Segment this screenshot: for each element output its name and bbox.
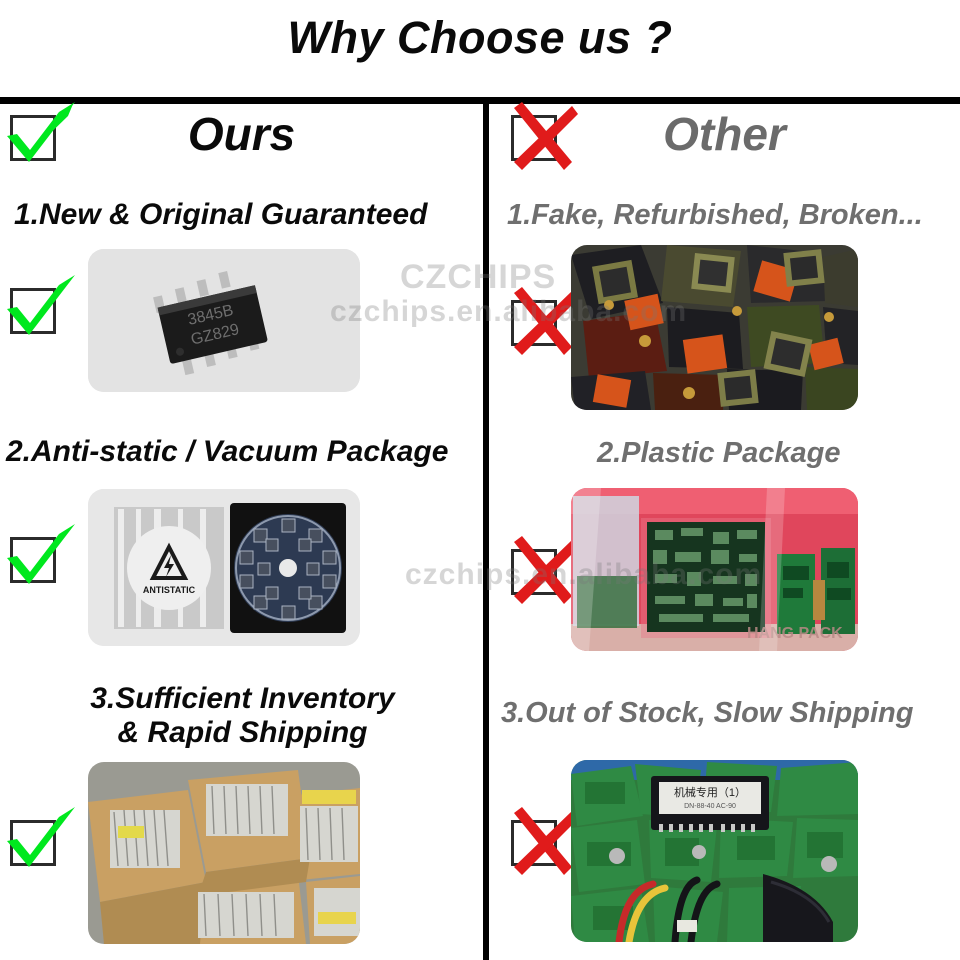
photo-chip-sop8: 3845B GZ829 xyxy=(88,249,360,392)
check-mark-icon-1 xyxy=(10,288,56,334)
feature-label-ours-2: 2.Anti-static / Vacuum Package xyxy=(6,435,476,469)
check-mark-icon-3 xyxy=(10,820,56,866)
cross-mark-icon-1 xyxy=(511,300,557,346)
feature-label-other-3: 3.Out of Stock, Slow Shipping xyxy=(501,697,956,729)
comparison-infographic: Why Choose us ? Ours 1.New & Original Gu… xyxy=(0,0,960,960)
feature-label-ours-3: 3.Sufficient Inventory & Rapid Shipping xyxy=(10,682,475,749)
check-mark-icon-2 xyxy=(10,537,56,583)
cross-mark-icon-3 xyxy=(511,820,557,866)
svg-text:机械专用（1）: 机械专用（1） xyxy=(674,785,746,799)
photo-pcb-scrap-heap: 机械专用（1） DN-88-40 AC-90 xyxy=(571,760,858,942)
column-heading-other: Other xyxy=(489,107,960,161)
feature-label-ours-1: 1.New & Original Guaranteed xyxy=(14,198,474,232)
column-ours: Ours 1.New & Original Guaranteed xyxy=(0,97,483,960)
column-heading-ours: Ours xyxy=(0,107,483,161)
photo-scrap-chips xyxy=(571,245,858,410)
svg-text:DN-88-40 AC-90: DN-88-40 AC-90 xyxy=(684,803,736,810)
photo-inventory-boxes xyxy=(88,762,360,944)
photo-plastic-package: HANG PACK xyxy=(571,488,858,651)
svg-text:ANTISTATIC: ANTISTATIC xyxy=(143,585,196,595)
feature-label-other-1: 1.Fake, Refurbished, Broken... xyxy=(507,199,957,231)
page-title: Why Choose us ? xyxy=(0,12,960,64)
feature-label-other-2: 2.Plastic Package xyxy=(597,437,957,469)
photo-antistatic-package: ANTISTATIC xyxy=(88,489,360,646)
cross-mark-icon-2 xyxy=(511,549,557,595)
column-other: Other 1.Fake, Refurbished, Broken... xyxy=(489,97,960,960)
